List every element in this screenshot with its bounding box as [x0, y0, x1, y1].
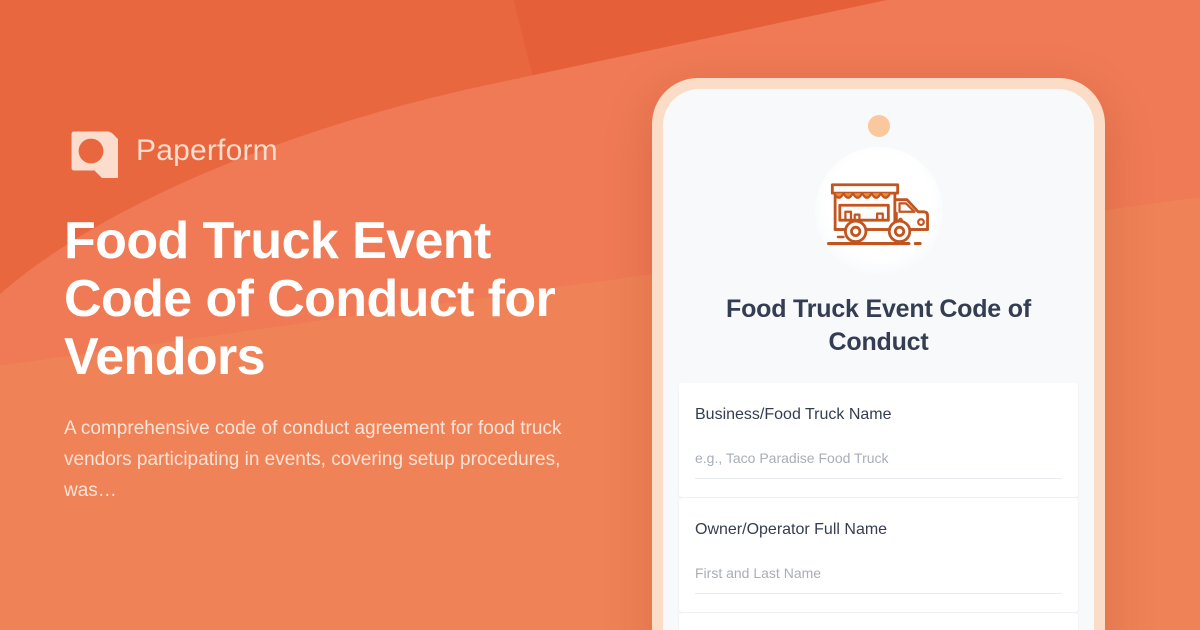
form-fields-list: Business/Food Truck Name e.g., Taco Para… [663, 383, 1094, 630]
form-title: Food Truck Event Code of Conduct [695, 293, 1062, 359]
form-field-next-partial[interactable] [679, 613, 1078, 630]
hero-content-column: Paperform Food Truck Event Code of Condu… [64, 0, 624, 630]
phone-screen: Food Truck Event Code of Conduct Busines… [663, 89, 1094, 630]
brand-lockup: Paperform [64, 124, 624, 178]
business-name-input[interactable]: e.g., Taco Paradise Food Truck [695, 450, 1062, 479]
form-field-owner-name[interactable]: Owner/Operator Full Name First and Last … [679, 498, 1078, 613]
field-label: Owner/Operator Full Name [695, 520, 1062, 541]
owner-name-input[interactable]: First and Last Name [695, 565, 1062, 594]
brand-name: Paperform [136, 136, 278, 166]
page-title: Food Truck Event Code of Conduct for Ven… [64, 212, 584, 387]
phone-mockup: Food Truck Event Code of Conduct Busines… [652, 78, 1105, 630]
field-label: Business/Food Truck Name [695, 405, 1062, 426]
food-truck-icon [823, 164, 935, 259]
phone-camera-dot [868, 115, 890, 137]
paperform-star-logo-icon [64, 124, 118, 178]
form-hero-icon-container [815, 147, 943, 275]
page-description: A comprehensive code of conduct agreemen… [64, 414, 584, 506]
form-field-business-name[interactable]: Business/Food Truck Name e.g., Taco Para… [679, 383, 1078, 498]
